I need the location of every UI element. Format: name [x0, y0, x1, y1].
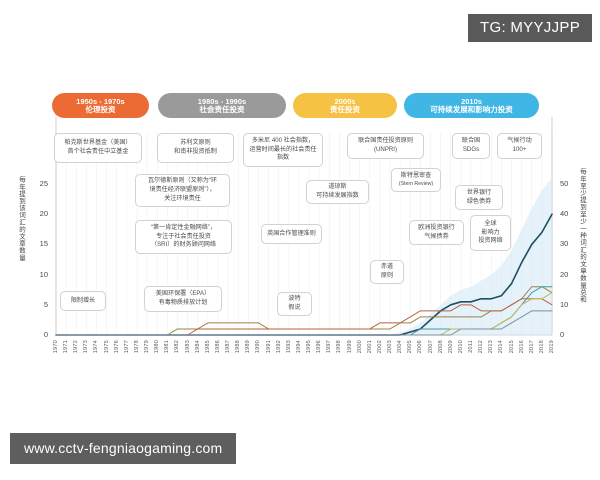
era-pill: 1980s - 1990s社会责任投资 [158, 93, 286, 118]
annotation-text: 全球影响力投资网络 [478, 220, 502, 246]
x-tick-year: 2000 [357, 340, 363, 353]
annotation-text: 瓦尔德斯原则（又称为“环境责任经济联盟原则”），关注环境责任 [148, 177, 217, 203]
annotation-climate-100: 气候行动100+ [497, 133, 542, 159]
annotation-porter: 波特假说 [277, 292, 312, 316]
x-tick-year: 1980 [154, 340, 160, 353]
x-tick-year: 1983 [185, 340, 191, 353]
x-tick-year: 2007 [428, 340, 434, 353]
x-tick-year: 1978 [134, 340, 140, 353]
annotation-text: 联合国责任投资原则(UNPRI) [358, 137, 413, 155]
annotation-stern-review: 斯特恩审查(Stern Review) [391, 168, 441, 192]
annotation-un-sdgs: 联合国SDGs [452, 133, 490, 159]
x-tick-year: 2013 [488, 340, 494, 353]
x-tick-year: 1981 [164, 340, 170, 353]
x-tick-year: 1970 [53, 340, 59, 353]
annotation-text: 苏利文原则和南非投资抵制 [174, 139, 217, 157]
x-tick-year: 1988 [235, 340, 241, 353]
annotation-text: “第一肯定性金融网络”，专注于社会责任投资（SRI）的财务顾问网络 [151, 224, 216, 250]
annotation-giin: 全球影响力投资网络 [470, 215, 511, 251]
annotation-text: 美国环保署（EPA）有毒物质排放计划 [156, 290, 210, 308]
x-tick-year: 1993 [286, 340, 292, 353]
annotation-pax-fund: 帕克斯世界基金（美国）首个社会责任中立基金 [54, 133, 142, 163]
annotation-limits-growth: 限制增长 [60, 291, 106, 311]
x-tick-year: 2005 [407, 340, 413, 353]
annotation-first-affirm: “第一肯定性金融网络”，专注于社会责任投资（SRI）的财务顾问网络 [135, 220, 232, 254]
x-tick-year: 2018 [539, 340, 545, 353]
x-tick-year: 1973 [83, 340, 89, 353]
y-tick-right: 0 [560, 330, 584, 339]
x-tick-year: 1972 [73, 340, 79, 353]
x-tick-year: 1971 [63, 340, 69, 353]
x-tick-year: 2010 [458, 340, 464, 353]
era-pill: 2010s可持续发展和影响力投资 [404, 93, 539, 118]
annotation-text: 赤道原则 [381, 263, 393, 281]
x-tick-year: 1999 [347, 340, 353, 353]
y-axis-left-title: 每年提到该词汇的文章数量 [17, 176, 24, 281]
y-tick-right: 40 [560, 209, 584, 218]
annotation-text: 限制增长 [71, 297, 95, 306]
y-tick-right: 10 [560, 300, 584, 309]
x-tick-year: 1994 [296, 340, 302, 353]
annotation-text: 气候行动100+ [507, 137, 531, 155]
x-tick-year: 1975 [104, 340, 110, 353]
y-tick-right: 30 [560, 239, 584, 248]
y-tick-right: 20 [560, 270, 584, 279]
x-tick-year: 1996 [316, 340, 322, 353]
x-tick-year: 2006 [417, 340, 423, 353]
annotation-uk-coop: 英国合作管理准则 [261, 224, 322, 244]
annotation-text: 英国合作管理准则 [267, 230, 316, 239]
x-tick-year: 1998 [336, 340, 342, 353]
x-tick-year: 2002 [377, 340, 383, 353]
telegram-watermark: TG: MYYJJPP [468, 14, 592, 42]
x-tick-year: 2003 [387, 340, 393, 353]
y-tick-left: 15 [24, 239, 48, 248]
timeline-chart-figure: 1950s - 1970s伦理投资1980s - 1990s社会责任投资2000… [0, 80, 600, 400]
x-tick-year: 2015 [509, 340, 515, 353]
x-tick-year: 1986 [215, 340, 221, 353]
annotation-eib-climate: 欧洲投资银行气候债券 [409, 220, 464, 245]
annotation-text: 帕克斯世界基金（美国）首个社会责任中立基金 [64, 139, 131, 157]
annotation-text: 世界银行绿色债券 [467, 189, 491, 207]
x-tick-year: 1995 [306, 340, 312, 353]
era-name-label: 可持续发展和影响力投资 [404, 106, 539, 114]
x-tick-year: 1982 [174, 340, 180, 353]
annotation-unpri: 联合国责任投资原则(UNPRI) [347, 133, 424, 159]
era-name-label: 伦理投资 [52, 106, 149, 114]
annotation-text: 斯特恩审查(Stern Review) [399, 172, 433, 188]
y-tick-left: 20 [24, 209, 48, 218]
x-tick-year: 2001 [367, 340, 373, 353]
x-tick-year: 2017 [529, 340, 535, 353]
annotation-text: 道琼斯可持续发展指数 [316, 183, 359, 201]
x-tick-year: 1989 [245, 340, 251, 353]
x-tick-year: 2014 [498, 340, 504, 353]
era-pill: 2000s责任投资 [293, 93, 397, 118]
y-tick-left: 25 [24, 179, 48, 188]
x-tick-year: 1997 [326, 340, 332, 353]
x-tick-year: 2009 [448, 340, 454, 353]
era-name-label: 社会责任投资 [158, 106, 286, 114]
era-pill: 1950s - 1970s伦理投资 [52, 93, 149, 118]
annotation-epa-tri: 美国环保署（EPA）有毒物质排放计划 [144, 286, 222, 312]
site-url-watermark: www.cctv-fengniaogaming.com [10, 433, 236, 464]
annotation-text: 联合国SDGs [462, 137, 480, 155]
x-tick-year: 1987 [225, 340, 231, 353]
era-name-label: 责任投资 [293, 106, 397, 114]
x-tick-year: 1977 [124, 340, 130, 353]
x-tick-year: 1985 [205, 340, 211, 353]
x-tick-year: 2008 [438, 340, 444, 353]
x-tick-year: 1992 [276, 340, 282, 353]
y-tick-left: 0 [24, 330, 48, 339]
x-tick-year: 1979 [144, 340, 150, 353]
annotation-domini-400: 多米尼 400 社会指数，运营时间最长的社会责任指数 [243, 133, 323, 167]
y-tick-left: 10 [24, 270, 48, 279]
x-tick-year: 2019 [549, 340, 555, 353]
x-tick-year: 1991 [266, 340, 272, 353]
x-tick-year: 2012 [478, 340, 484, 353]
y-tick-right: 50 [560, 179, 584, 188]
x-tick-year: 1990 [255, 340, 261, 353]
annotation-equator: 赤道原则 [370, 260, 404, 284]
era-legend-row: 1950s - 1970s伦理投资1980s - 1990s社会责任投资2000… [0, 93, 600, 119]
annotation-text: 多米尼 400 社会指数，运营时间最长的社会责任指数 [249, 137, 316, 163]
x-tick-year: 1984 [195, 340, 201, 353]
annotation-djsi: 道琼斯可持续发展指数 [306, 180, 369, 204]
annotation-worldbank-green: 世界银行绿色债券 [455, 185, 503, 210]
y-tick-left: 5 [24, 300, 48, 309]
x-tick-year: 1976 [114, 340, 120, 353]
x-tick-year: 2004 [397, 340, 403, 353]
annotation-valdez: 瓦尔德斯原则（又称为“环境责任经济联盟原则”），关注环境责任 [135, 174, 230, 207]
x-tick-year: 2011 [468, 340, 474, 353]
x-tick-year: 1974 [93, 340, 99, 353]
annotation-text: 波特假说 [288, 295, 300, 313]
annotation-subtext: (Stern Review) [399, 181, 433, 189]
x-tick-year: 2016 [519, 340, 525, 353]
annotation-text: 欧洲投资银行气候债券 [418, 224, 455, 242]
annotation-sullivan: 苏利文原则和南非投资抵制 [157, 133, 234, 163]
